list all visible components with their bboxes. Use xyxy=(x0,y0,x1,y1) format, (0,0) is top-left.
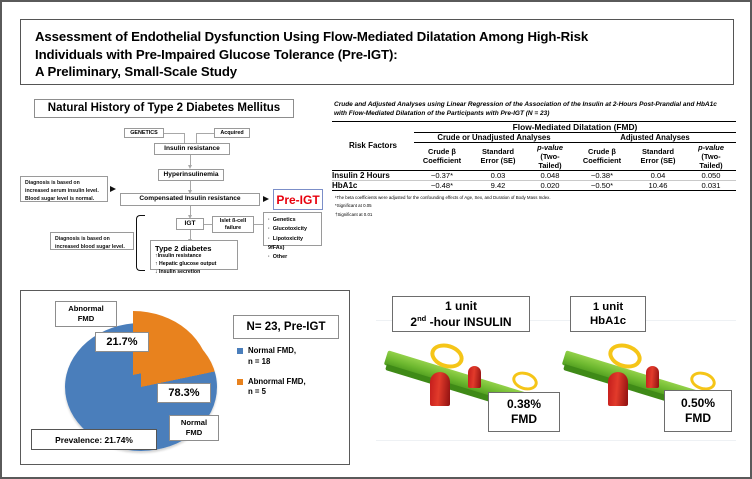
seesaw-illustration-panel: 1 unit 2nd -hour INSULIN 0.38% FMD 1 uni… xyxy=(376,290,736,465)
row-0-value-2: 0.048 xyxy=(526,170,574,180)
node-genetics: GENETICS xyxy=(124,128,164,138)
seesaw-support-far-hba1c xyxy=(646,366,659,388)
table-header-adjusted-group: Adjusted Analyses xyxy=(574,132,736,142)
connector-islet-causes xyxy=(254,224,263,225)
causes-list: Genetics Glucotoxicity Lipotoxicity 9fFA… xyxy=(263,212,322,246)
callout-insulin-line2: 2nd -hour INSULIN xyxy=(410,314,511,330)
connector-acquired xyxy=(196,133,214,134)
connector-genetics-down xyxy=(184,133,185,143)
legend-normal-line2: n = 18 xyxy=(248,357,270,366)
figure-page: Assessment of Endothelial Dysfunction Us… xyxy=(0,0,752,479)
islet-line-1: Islet ß-cell xyxy=(220,218,246,225)
note-diagnosis-blood-sugar: Diagnosis is based on increased blood su… xyxy=(50,232,134,250)
t2d-item-2: ↓ Insulin secretion xyxy=(155,269,233,277)
legend-label-abnormal: Abnormal FMD, n = 5 xyxy=(248,377,306,399)
row-0-value-1: 0.03 xyxy=(470,170,526,180)
pie-value-abnormal: 21.7% xyxy=(95,332,149,352)
col5-line3: Tailed) xyxy=(686,161,736,170)
callout-hba1c-line2: HbA1c xyxy=(590,314,626,328)
table-header-crude-group: Crude or Unadjusted Analyses xyxy=(414,132,574,142)
table-header-col-1: Standard Error (SE) xyxy=(470,142,526,170)
col1-line1: Standard xyxy=(470,147,526,156)
table-footnote-2: †Significant at 0.01 xyxy=(335,211,736,219)
col4-line2: Error (SE) xyxy=(630,156,686,165)
node-compensated-insulin-resistance: Compensated Insulin resistance xyxy=(120,193,260,206)
row-1-value-2: 0.020 xyxy=(526,180,574,190)
col2-line2: (Two- xyxy=(526,152,574,161)
legend-label-normal: Normal FMD, n = 18 xyxy=(248,346,296,368)
node-type-2-diabetes: Type 2 diabetes ↑Insulin resistance ↑ He… xyxy=(150,240,238,270)
seesaw-top-callout-insulin: 1 unit 2nd -hour INSULIN xyxy=(392,296,530,332)
figure-title-box: Assessment of Endothelial Dysfunction Us… xyxy=(20,19,734,85)
seesaw-support-near-insulin xyxy=(430,372,450,406)
pie-legend: Normal FMD, n = 18 Abnormal FMD, n = 5 xyxy=(237,346,347,407)
callout-hba1c-fmd-label: FMD xyxy=(685,411,711,426)
page-title-line-3: A Preliminary, Small-Scale Study xyxy=(35,63,721,81)
pie-sample-size-box: N= 23, Pre-IGT xyxy=(233,315,339,339)
table-header-fmd: Flow-Mediated Dilatation (FMD) xyxy=(414,121,736,132)
seesaw-bottom-callout-insulin: 0.38% FMD xyxy=(488,392,560,432)
connector-igt-islet xyxy=(204,224,212,225)
col0-line2: Coefficient xyxy=(414,156,470,165)
row-1-value-5: 0.031 xyxy=(686,180,736,190)
callout-hba1c-fmd-value: 0.50% xyxy=(681,396,715,411)
table-row: Insulin 2 Hours −0.37* 0.03 0.048 −0.38*… xyxy=(332,170,736,180)
page-title-line-2: Individuals with Pre-Impaired Glucose To… xyxy=(35,46,721,64)
callout-insulin-sup: nd xyxy=(417,314,426,323)
col0-line1: Crude β xyxy=(414,147,470,156)
node-pre-igt: Pre-IGT xyxy=(273,189,323,210)
node-igt: IGT xyxy=(176,218,204,230)
legend-item-normal: Normal FMD, n = 18 xyxy=(237,346,347,368)
seesaw-top-callout-hba1c: 1 unit HbA1c xyxy=(570,296,646,332)
table-header-col-4: Standard Error (SE) xyxy=(630,142,686,170)
node-insulin-resistance: Insulin resistance xyxy=(154,143,230,155)
table-caption-line-1: Crude and Adjusted Analyses using Linear… xyxy=(334,100,736,109)
fmd-pie-chart-panel: Abnormal FMD 21.7% 78.3% Normal FMD N= 2… xyxy=(20,290,350,465)
connector-genetics xyxy=(164,133,184,134)
table-footnote-1: *Significant at 0.05 xyxy=(335,202,736,210)
row-0-value-4: 0.04 xyxy=(630,170,686,180)
callout-hba1c-line1: 1 unit xyxy=(593,300,623,314)
arrow-comp-to-preigt-icon xyxy=(263,196,269,202)
diagram-title: Natural History of Type 2 Diabetes Melli… xyxy=(34,99,294,118)
page-title-line-1: Assessment of Endothelial Dysfunction Us… xyxy=(35,28,721,46)
pie-value-normal: 78.3% xyxy=(157,383,211,403)
pie-label-normal-line1: Normal xyxy=(181,418,207,428)
col1-line2: Error (SE) xyxy=(470,156,526,165)
cause-item-2: Lipotoxicity 9fFAs) xyxy=(268,235,318,254)
diagram-brace xyxy=(136,215,145,271)
cause-item-0: Genetics xyxy=(268,216,318,225)
callout-insulin-rest: -hour INSULIN xyxy=(426,315,511,329)
table-header-col-0: Crude β Coefficient xyxy=(414,142,470,170)
pie-label-abnormal: Abnormal FMD xyxy=(55,301,117,327)
islet-line-2: failure xyxy=(225,225,241,232)
connector-acquired-down xyxy=(196,133,197,143)
seesaw-support-near-hba1c xyxy=(608,372,628,406)
row-1-value-4: 10.46 xyxy=(630,180,686,190)
col3-line1: Crude β xyxy=(574,147,630,156)
arrow-note1-icon xyxy=(110,186,116,192)
row-1-value-1: 9.42 xyxy=(470,180,526,190)
prevalence-box: Prevalence: 21.74% xyxy=(31,429,157,450)
table-caption: Crude and Adjusted Analyses using Linear… xyxy=(334,100,736,119)
legend-swatch-abnormal-icon xyxy=(237,379,243,385)
legend-item-abnormal: Abnormal FMD, n = 5 xyxy=(237,377,347,399)
natural-history-diagram: Natural History of Type 2 Diabetes Melli… xyxy=(20,99,322,269)
row-1-value-0: −0.48* xyxy=(414,180,470,190)
pie-label-abnormal-line2: FMD xyxy=(78,314,94,324)
table-row: HbA1c −0.48* 9.42 0.020 −0.50* 10.46 0.0… xyxy=(332,180,736,190)
row-0-value-3: −0.38* xyxy=(574,170,630,180)
table-header-risk-factors: Risk Factors xyxy=(332,121,414,170)
cause-item-1: Glucotoxicity xyxy=(268,225,318,234)
regression-table-panel: Crude and Adjusted Analyses using Linear… xyxy=(332,100,736,272)
cause-item-3: Other xyxy=(268,253,318,262)
table-header-col-2: p-value (Two- Tailed) xyxy=(526,142,574,170)
callout-insulin-line1: 1 unit xyxy=(445,299,477,314)
node-hyperinsulinemia: Hyperinsulinemia xyxy=(158,169,224,181)
row-0-label: Insulin 2 Hours xyxy=(332,170,414,180)
table-caption-line-2: with Flow-Mediated Dilatation of the Par… xyxy=(334,109,736,118)
regression-table: Risk Factors Flow-Mediated Dilatation (F… xyxy=(332,121,736,191)
node-acquired: Acquired xyxy=(214,128,250,138)
row-1-value-3: −0.50* xyxy=(574,180,630,190)
seesaw-support-far-insulin xyxy=(468,366,481,388)
col5-line2: (Two- xyxy=(686,152,736,161)
legend-swatch-normal-icon xyxy=(237,348,243,354)
t2d-heading: Type 2 diabetes xyxy=(155,244,233,253)
table-footnotes: ¹The beta coefficients were adjusted for… xyxy=(332,194,736,219)
faint-guide-line-bottom xyxy=(376,440,736,441)
table-header-col-3: Crude β Coefficient xyxy=(574,142,630,170)
col2-line3: Tailed) xyxy=(526,161,574,170)
col2-line1: p-value xyxy=(537,143,563,152)
row-0-value-5: 0.050 xyxy=(686,170,736,180)
note-diagnosis-insulin: Diagnosis is based on increased serum in… xyxy=(20,176,108,202)
col5-line1: p-value xyxy=(698,143,724,152)
node-islet-beta-cell-failure: Islet ß-cell failure xyxy=(212,216,254,233)
legend-normal-line1: Normal FMD, xyxy=(248,346,296,355)
callout-insulin-fmd-label: FMD xyxy=(511,412,537,427)
t2d-item-1: ↑ Hepatic glucose output xyxy=(155,261,233,269)
pie-label-normal-line2: FMD xyxy=(186,428,202,438)
table-span-header-row: Risk Factors Flow-Mediated Dilatation (F… xyxy=(332,121,736,132)
table-header-col-5: p-value (Two- Tailed) xyxy=(686,142,736,170)
legend-abnormal-line2: n = 5 xyxy=(248,387,266,396)
legend-abnormal-line1: Abnormal FMD, xyxy=(248,377,306,386)
pie-label-abnormal-line1: Abnormal xyxy=(68,304,103,314)
table-footnote-0: ¹The beta coefficients were adjusted for… xyxy=(335,194,736,202)
col4-line1: Standard xyxy=(630,147,686,156)
row-0-value-0: −0.37* xyxy=(414,170,470,180)
row-1-label: HbA1c xyxy=(332,180,414,190)
t2d-item-0: ↑Insulin resistance xyxy=(155,253,233,261)
callout-insulin-fmd-value: 0.38% xyxy=(507,397,541,412)
seesaw-bottom-callout-hba1c: 0.50% FMD xyxy=(664,390,732,432)
pie-label-normal: Normal FMD xyxy=(169,415,219,441)
col3-line2: Coefficient xyxy=(574,156,630,165)
